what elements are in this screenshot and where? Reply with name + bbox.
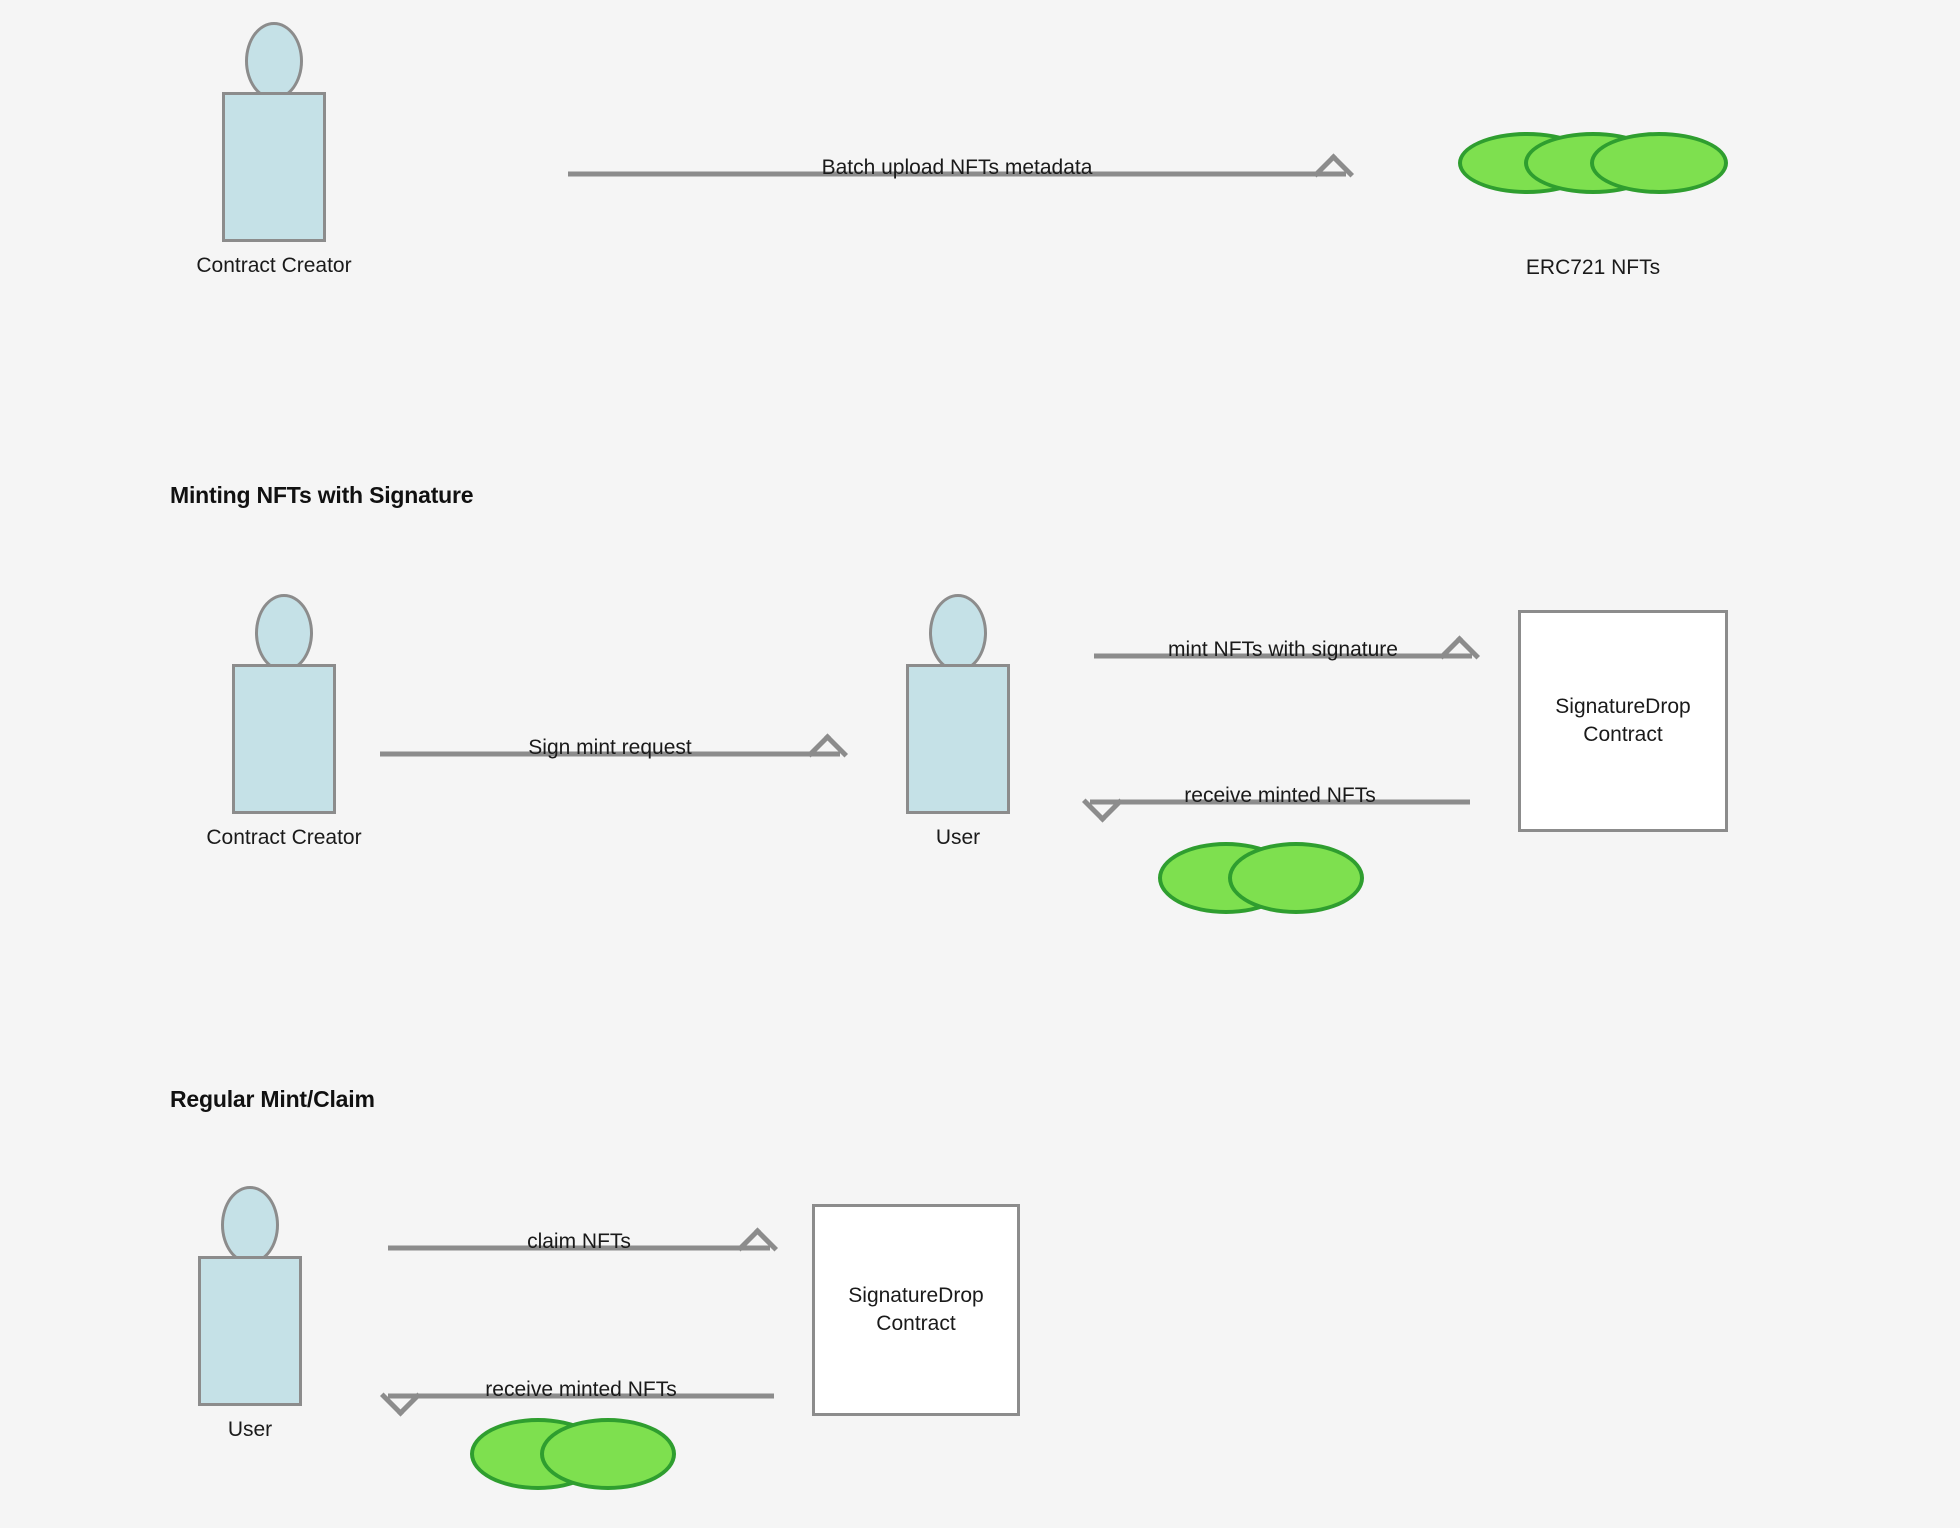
box-text: SignatureDrop Contract xyxy=(848,1282,983,1339)
actor-body-icon xyxy=(198,1256,302,1406)
arrow-receive-minted-nfts-bottom: receive minted NFTs xyxy=(388,1374,774,1418)
arrow-head-left-icon xyxy=(1082,781,1123,822)
actor-body-icon xyxy=(232,664,336,814)
diagram-canvas: Contract Creator Batch upload NFTs metad… xyxy=(0,0,1960,1528)
nft-ellipse-icon xyxy=(1228,842,1364,914)
actor-label: Contract Creator xyxy=(206,826,361,850)
section-heading-regular-mint-claim: Regular Mint/Claim xyxy=(170,1086,375,1113)
arrow-batch-upload-nfts-metadata: Batch upload NFTs metadata xyxy=(568,152,1346,196)
actor-body-icon xyxy=(906,664,1010,814)
actor-label: Contract Creator xyxy=(196,254,351,278)
actor-head-icon xyxy=(221,1186,279,1264)
arrow-head-right-icon xyxy=(1439,635,1480,676)
arrow-label: receive minted NFTs xyxy=(485,1378,676,1402)
box-signaturedrop-contract-mid: SignatureDrop Contract xyxy=(1518,610,1728,832)
box-text-line1: SignatureDrop xyxy=(848,1282,983,1310)
nft-cluster-label: ERC721 NFTs xyxy=(1526,256,1660,280)
nft-cluster-minted-nfts-mid xyxy=(1158,842,1364,922)
actor-body-icon xyxy=(222,92,326,242)
arrow-head-right-icon xyxy=(737,1227,778,1268)
actor-contract-creator-mid: Contract Creator xyxy=(232,594,336,859)
nft-ellipse-icon xyxy=(540,1418,676,1490)
box-text: SignatureDrop Contract xyxy=(1555,693,1690,750)
arrow-mint-nfts-with-signature: mint NFTs with signature xyxy=(1094,634,1472,678)
arrow-label: Batch upload NFTs metadata xyxy=(822,156,1093,180)
actor-user-bottom: User xyxy=(198,1186,302,1451)
arrow-label: Sign mint request xyxy=(528,736,691,760)
box-text-line1: SignatureDrop xyxy=(1555,693,1690,721)
actor-label: User xyxy=(936,826,980,850)
arrow-head-left-icon xyxy=(380,1375,421,1416)
arrow-label: receive minted NFTs xyxy=(1184,784,1375,808)
box-text-line2: Contract xyxy=(1555,721,1690,749)
section-heading-minting-with-signature: Minting NFTs with Signature xyxy=(170,482,473,509)
arrow-sign-mint-request: Sign mint request xyxy=(380,732,840,776)
arrow-label: mint NFTs with signature xyxy=(1168,638,1398,662)
arrow-receive-minted-nfts-mid: receive minted NFTs xyxy=(1090,780,1470,824)
nft-cluster-erc721-nfts: ERC721 NFTs xyxy=(1458,132,1728,262)
arrow-head-right-icon xyxy=(1313,153,1354,194)
actor-user-mid: User xyxy=(906,594,1010,859)
actor-label: User xyxy=(228,1418,272,1442)
actor-head-icon xyxy=(255,594,313,672)
box-signaturedrop-contract-bottom: SignatureDrop Contract xyxy=(812,1204,1020,1416)
nft-ellipse-icon xyxy=(1590,132,1728,194)
nft-cluster-minted-nfts-bottom xyxy=(470,1418,676,1498)
arrow-label: claim NFTs xyxy=(527,1230,631,1254)
actor-head-icon xyxy=(245,22,303,100)
arrow-head-right-icon xyxy=(807,733,848,774)
actor-contract-creator-top: Contract Creator xyxy=(222,22,326,287)
arrow-claim-nfts: claim NFTs xyxy=(388,1226,770,1270)
actor-head-icon xyxy=(929,594,987,672)
box-text-line2: Contract xyxy=(848,1310,983,1338)
